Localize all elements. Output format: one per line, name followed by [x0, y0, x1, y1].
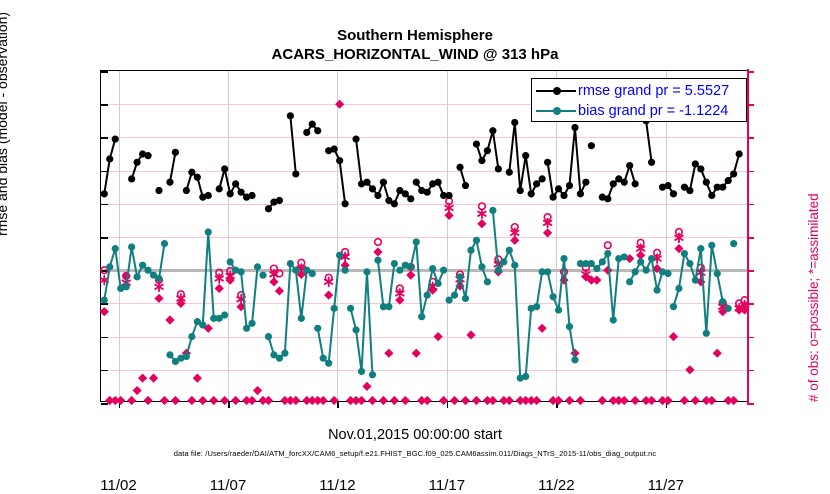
series-point-rmse [336, 157, 343, 164]
series-point-bias [352, 326, 359, 333]
series-point-bias [199, 321, 206, 328]
series-point-rmse [128, 175, 135, 182]
obs-diamond-marker [171, 396, 180, 405]
legend-label-rmse: rmse grand pr = 5.5527 [578, 83, 729, 99]
series-point-bias [259, 272, 266, 279]
series-line-bias [493, 210, 531, 378]
series-point-bias [560, 255, 567, 262]
series-point-bias [374, 257, 381, 264]
series-point-rmse [112, 135, 119, 142]
obs-diamond-marker [209, 396, 218, 405]
y-axis-left-tick-mark [101, 403, 108, 405]
series-point-rmse [314, 127, 321, 134]
series-point-rmse [571, 124, 578, 131]
series-point-rmse [238, 189, 245, 196]
series-point-rmse [604, 195, 611, 202]
obs-diamond-marker [488, 396, 497, 405]
series-point-bias [489, 207, 496, 214]
series-point-bias [281, 350, 288, 357]
chart-title: Southern Hemisphere ACARS_HORIZONTAL_WIN… [0, 26, 830, 64]
obs-diamond-marker [275, 286, 284, 295]
series-point-rmse [517, 187, 524, 194]
series-point-rmse [736, 150, 743, 157]
series-point-bias [287, 260, 294, 267]
series-point-bias [599, 258, 606, 265]
obs-diamond-marker [466, 330, 475, 339]
series-point-bias [500, 258, 507, 265]
series-point-bias [467, 247, 474, 254]
title-line-1: Southern Hemisphere [0, 26, 830, 45]
x-axis-tick-label: 11/12 [319, 477, 355, 494]
series-point-rmse [582, 179, 589, 186]
obs-diamond-marker [154, 294, 163, 303]
series-point-bias [664, 270, 671, 277]
series-line-bias [104, 244, 164, 300]
series-point-bias [298, 315, 305, 322]
series-point-bias [413, 238, 420, 245]
series-line-bias [378, 260, 394, 306]
obs-diamond-marker [198, 396, 207, 405]
obs-diamond-marker [116, 396, 125, 405]
series-point-bias [188, 333, 195, 340]
obs-diamond-marker [362, 382, 371, 391]
obs-diamond-marker [149, 374, 158, 383]
series-point-rmse [697, 165, 704, 172]
series-rmse [101, 112, 743, 212]
obs-diamond-marker [680, 396, 689, 405]
series-point-rmse [287, 112, 294, 119]
series-point-bias [314, 325, 321, 332]
obs-diamond-marker [401, 396, 410, 405]
series-point-bias [708, 242, 715, 249]
series-line-rmse [104, 139, 115, 194]
series-point-bias [123, 283, 130, 290]
series-point-bias [292, 267, 299, 274]
series-point-bias [112, 245, 119, 252]
series-point-rmse [221, 165, 228, 172]
series-point-bias [555, 306, 562, 313]
obs-diamond-marker [450, 396, 459, 405]
obs-diamond-marker [477, 219, 486, 228]
obs-diamond-marker [620, 396, 629, 405]
legend-item-bias: bias grand pr = -1.1224 [536, 101, 742, 121]
obs-diamond-marker [324, 291, 333, 300]
series-point-rmse [155, 187, 162, 194]
series-point-bias [730, 240, 737, 247]
series-point-rmse [194, 174, 201, 181]
series-point-bias [106, 263, 113, 270]
obs-diamond-marker [434, 332, 443, 341]
series-point-bias [155, 275, 162, 282]
obs-diamond-marker [729, 396, 738, 405]
series-point-rmse [413, 179, 420, 186]
series-point-rmse [730, 170, 737, 177]
series-point-bias [265, 333, 272, 340]
x-axis-tick-label: 11/17 [429, 477, 465, 494]
obs-diamond-marker [319, 396, 328, 405]
obs-diamond-marker [565, 396, 574, 405]
series-point-rmse [708, 192, 715, 199]
series-point-rmse [462, 182, 469, 189]
series-point-bias [391, 260, 398, 267]
series-point-bias [254, 263, 261, 270]
obs-diamond-marker [647, 396, 656, 405]
series-point-bias [385, 303, 392, 310]
obs-diamond-marker [423, 396, 432, 405]
x-axis-tick-label: 11/02 [100, 477, 136, 494]
series-point-bias [276, 355, 283, 362]
series-point-bias [697, 245, 704, 252]
obs-diamond-marker [335, 100, 344, 109]
series-point-rmse [544, 159, 551, 166]
series-point-bias [435, 280, 442, 287]
series-point-bias [341, 267, 348, 274]
series-point-rmse [511, 119, 518, 126]
x-axis-tick-label: 11/07 [210, 477, 246, 494]
obs-diamond-marker [143, 396, 152, 405]
obs-diamond-marker [373, 247, 382, 256]
series-point-bias [626, 278, 633, 285]
legend-label-bias: bias grand pr = -1.1224 [578, 103, 728, 119]
obs-diamond-marker [576, 396, 585, 405]
series-point-rmse [495, 165, 502, 172]
series-point-rmse [331, 145, 338, 152]
series-point-bias [227, 258, 234, 265]
series-point-rmse [549, 194, 556, 201]
obs-diamond-marker [713, 349, 722, 358]
x-axis-tick-label: 11/22 [538, 477, 574, 494]
series-point-rmse [265, 205, 272, 212]
series-point-bias [429, 265, 436, 272]
series-point-bias [544, 268, 551, 275]
obs-diamond-marker [247, 396, 256, 405]
series-point-bias [566, 323, 573, 330]
x-axis-tick-label: 11/27 [648, 477, 684, 494]
series-point-bias [495, 267, 502, 274]
series-point-bias [166, 351, 173, 358]
series-point-rmse [232, 180, 239, 187]
series-point-rmse [101, 190, 108, 197]
obs-diamond-marker [357, 396, 366, 405]
obs-diamond-marker [138, 374, 147, 383]
series-point-bias [588, 260, 595, 267]
series-point-bias [604, 250, 611, 257]
series-point-rmse [539, 175, 546, 182]
series-point-rmse [445, 192, 452, 199]
chart-root: Southern Hemisphere ACARS_HORIZONTAL_WIN… [0, 0, 830, 470]
obs-diamond-marker [127, 396, 136, 405]
y-axis-right-tick-mark [747, 403, 754, 405]
series-point-rmse [577, 190, 584, 197]
obs-assimilated-asterisk-marker [478, 209, 486, 218]
series-point-rmse [166, 179, 173, 186]
series-point-bias [424, 292, 431, 299]
series-point-bias [632, 268, 639, 275]
series-point-rmse [435, 179, 442, 186]
series-point-rmse [248, 192, 255, 199]
legend-item-rmse: rmse grand pr = 5.5527 [536, 81, 742, 101]
series-point-bias [725, 305, 732, 312]
series-point-rmse [352, 135, 359, 142]
series-point-rmse [478, 157, 485, 164]
obs-diamond-marker [543, 228, 552, 237]
series-point-bias [714, 270, 721, 277]
series-point-rmse [621, 179, 628, 186]
series-point-bias [358, 368, 365, 375]
series-point-bias [621, 253, 628, 260]
obs-diamond-marker [532, 396, 541, 405]
series-point-rmse [341, 200, 348, 207]
legend-line-marker-rmse [536, 84, 576, 98]
series-point-bias [637, 258, 644, 265]
y-axis-right-label: # of obs: o=possible; *=assimilated [806, 193, 821, 402]
series-point-bias [549, 293, 556, 300]
series-point-rmse [424, 189, 431, 196]
series-point-rmse [188, 169, 195, 176]
obs-diamond-marker [215, 284, 224, 293]
series-point-bias [692, 277, 699, 284]
series-point-bias [134, 273, 141, 280]
obs-diamond-marker [554, 396, 563, 405]
obs-diamond-marker [406, 271, 415, 280]
legend-line-marker-bias [536, 104, 576, 118]
series-point-rmse [473, 140, 480, 147]
series-point-rmse [402, 190, 409, 197]
series-point-bias [703, 330, 710, 337]
series-point-rmse [106, 155, 113, 162]
series-point-bias [456, 273, 463, 280]
obs-diamond-marker [472, 396, 481, 405]
obs-diamond-marker [412, 349, 421, 358]
series-point-rmse [183, 187, 190, 194]
obs-diamond-marker [685, 365, 694, 374]
series-point-bias [221, 311, 228, 318]
obs-diamond-marker [253, 386, 262, 395]
obs-diamond-marker [133, 386, 142, 395]
series-point-bias [643, 267, 650, 274]
series-point-rmse [484, 147, 491, 154]
series-point-bias [522, 373, 529, 380]
obs-assimilated-asterisk-marker [445, 204, 453, 213]
series-point-rmse [506, 169, 513, 176]
series-point-rmse [276, 197, 283, 204]
series-point-bias [139, 262, 146, 269]
series-point-rmse [522, 152, 529, 159]
obs-diamond-marker [669, 332, 678, 341]
obs-diamond-marker [368, 396, 377, 405]
series-point-bias [320, 355, 327, 362]
series-point-rmse [725, 177, 732, 184]
series-point-bias [478, 263, 485, 270]
series-point-bias [445, 296, 452, 303]
series-point-rmse [555, 185, 562, 192]
obs-diamond-marker [165, 315, 174, 324]
series-point-bias [309, 270, 316, 277]
series-point-rmse [216, 185, 223, 192]
series-point-rmse [588, 142, 595, 149]
series-point-rmse [407, 195, 414, 202]
series-point-bias [506, 247, 513, 254]
series-point-rmse [566, 182, 573, 189]
series-point-bias [473, 237, 480, 244]
obs-diamond-marker [598, 396, 607, 405]
series-point-bias [336, 252, 343, 259]
data-file-footer: data file: /Users/raeder/DAI/ATM_forcXX/… [0, 449, 830, 458]
series-point-rmse [205, 192, 212, 199]
series-point-rmse [670, 190, 677, 197]
series-point-rmse [703, 179, 710, 186]
obs-diamond-marker [631, 396, 640, 405]
obs-diamond-marker [663, 396, 672, 405]
series-point-rmse [686, 187, 693, 194]
series-point-rmse [648, 159, 655, 166]
series-point-bias [681, 250, 688, 257]
series-point-bias [719, 298, 726, 305]
series-line-rmse [646, 121, 651, 163]
series-point-bias [648, 255, 655, 262]
obs-diamond-marker [193, 374, 202, 383]
series-point-rmse [533, 180, 540, 187]
obs-diamond-marker [505, 396, 514, 405]
series-bias [101, 207, 738, 382]
series-point-bias [205, 228, 212, 235]
series-point-rmse [134, 159, 141, 166]
obs-assimilated-asterisk-marker [155, 282, 163, 291]
obs-diamond-marker [187, 396, 196, 405]
series-line-bias [351, 272, 373, 375]
series-point-rmse [632, 180, 639, 187]
series-point-bias [161, 240, 168, 247]
series-point-bias [369, 371, 376, 378]
series-point-bias [511, 262, 518, 269]
series-point-rmse [391, 200, 398, 207]
series-point-bias [248, 320, 255, 327]
series-point-bias [101, 296, 108, 303]
series-point-rmse [380, 179, 387, 186]
series-point-rmse [369, 185, 376, 192]
series-point-rmse [144, 152, 151, 159]
series-point-bias [183, 353, 190, 360]
series-point-bias [128, 243, 135, 250]
series-point-bias [238, 268, 245, 275]
obs-diamond-marker [231, 396, 240, 405]
series-point-rmse [292, 170, 299, 177]
obs-diamond-marker [691, 396, 700, 405]
series-point-rmse [227, 190, 234, 197]
series-point-rmse [374, 192, 381, 199]
series-line-rmse [170, 152, 175, 182]
series-point-bias [363, 268, 370, 275]
obs-diamond-marker [707, 396, 716, 405]
obs-diamond-marker [160, 396, 169, 405]
series-point-rmse [692, 160, 699, 167]
obs-diamond-marker [603, 266, 612, 275]
obs-possible-circle-marker [604, 242, 611, 249]
obs-diamond-marker [100, 307, 109, 316]
series-point-bias [675, 285, 682, 292]
obs-diamond-marker [461, 396, 470, 405]
series-point-bias [484, 278, 491, 285]
series-point-bias [451, 292, 458, 299]
y-axis-left-label: rmse and bias (model - observation) [0, 12, 10, 236]
series-point-rmse [528, 190, 535, 197]
chart-legend: rmse grand pr = 5.5527 bias grand pr = -… [531, 78, 747, 122]
obs-possible-circle-marker [375, 239, 382, 246]
series-point-rmse [626, 162, 633, 169]
series-point-bias [418, 313, 425, 320]
series-point-rmse [456, 164, 463, 171]
series-point-bias [325, 360, 332, 367]
obs-diamond-marker [384, 349, 393, 358]
series-point-bias [440, 267, 447, 274]
series-line-bias [268, 264, 312, 359]
series-point-rmse [664, 182, 671, 189]
series-point-bias [593, 265, 600, 272]
obs-diamond-marker [538, 324, 547, 333]
series-point-rmse [489, 127, 496, 134]
series-point-bias [396, 267, 403, 274]
series-point-rmse [610, 180, 617, 187]
series-point-bias [347, 305, 354, 312]
series-point-bias [144, 267, 151, 274]
series-point-bias [462, 295, 469, 302]
series-point-bias [533, 303, 540, 310]
series-point-rmse [560, 192, 567, 199]
series-point-bias [653, 287, 660, 294]
series-line-rmse [290, 116, 295, 174]
series-line-bias [400, 242, 444, 317]
obs-diamond-marker [390, 396, 399, 405]
obs-diamond-marker [379, 396, 388, 405]
series-point-bias [571, 356, 578, 363]
obs-diamond-marker [291, 396, 300, 405]
series-point-rmse [719, 184, 726, 191]
series-point-rmse [309, 121, 316, 128]
series-point-bias [243, 325, 250, 332]
series-point-bias [670, 303, 677, 310]
obs-diamond-marker [592, 276, 601, 285]
series-point-rmse [303, 129, 310, 136]
series-point-bias [610, 316, 617, 323]
obs-diamond-marker [264, 396, 273, 405]
series-point-bias [407, 263, 414, 270]
series-point-bias [686, 260, 693, 267]
series-line-rmse [329, 149, 345, 204]
title-line-2: ACARS_HORIZONTAL_WIND @ 313 hPa [0, 45, 830, 64]
series-point-rmse [363, 179, 370, 186]
series-point-bias [331, 305, 338, 312]
x-axis-label: Nov.01,2015 00:00:00 start [0, 427, 830, 443]
series-point-rmse [172, 149, 179, 156]
